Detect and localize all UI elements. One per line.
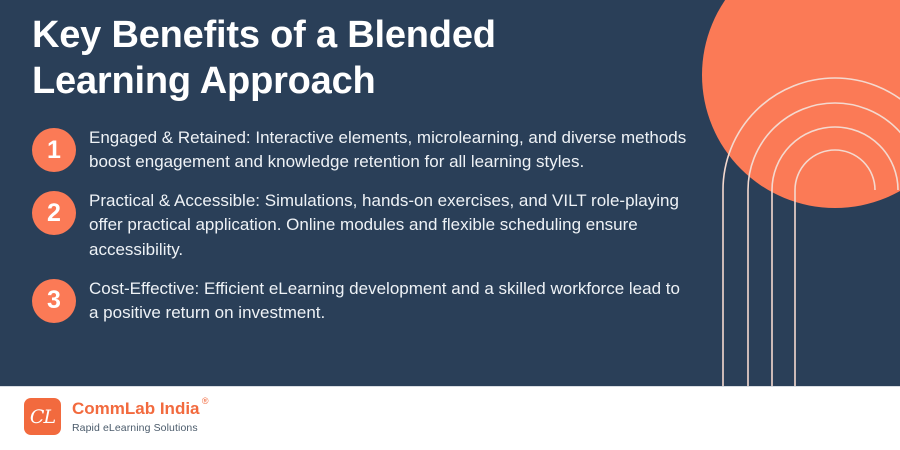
footer-bar: CL CommLab India® Rapid eLearning Soluti… [0,386,900,450]
slide-canvas: Key Benefits of a Blended Learning Appro… [0,0,900,450]
brand-logo: CL CommLab India® Rapid eLearning Soluti… [24,398,200,435]
list-item-text: Engaged & Retained: Interactive elements… [89,125,692,174]
list-item-number-badge: 2 [32,191,76,235]
list-item-number-badge: 3 [32,279,76,323]
arc-line-4-right [835,150,875,190]
commlab-monogram-icon: CL [24,398,61,435]
arc-line-1-right [835,78,900,190]
arc-line-2 [748,103,835,386]
brand-name: CommLab India® [72,400,200,419]
arc-line-3 [772,127,835,386]
logo-monogram-text: CL [24,398,61,435]
large-orange-circle [702,0,900,208]
list-item-text: Cost-Effective: Efficient eLearning deve… [89,276,692,325]
list-item: 3 Cost-Effective: Efficient eLearning de… [32,276,692,325]
arc-line-3-right [835,127,898,190]
list-item-text: Practical & Accessible: Simulations, han… [89,188,692,261]
arc-line-2-right [835,103,900,190]
content-panel: Key Benefits of a Blended Learning Appro… [0,0,900,386]
list-item-number-badge: 1 [32,128,76,172]
list-item: 1 Engaged & Retained: Interactive elemen… [32,125,692,174]
brand-name-text: CommLab India [72,399,200,418]
list-item: 2 Practical & Accessible: Simulations, h… [32,188,692,261]
benefits-list: 1 Engaged & Retained: Interactive elemen… [32,125,692,339]
brand-tagline: Rapid eLearning Solutions [72,422,200,434]
arc-line-4 [795,150,835,386]
page-title: Key Benefits of a Blended Learning Appro… [32,12,652,105]
arc-line-1 [723,78,835,386]
registered-trademark-icon: ® [202,397,209,407]
brand-text-block: CommLab India® Rapid eLearning Solutions [72,400,200,434]
